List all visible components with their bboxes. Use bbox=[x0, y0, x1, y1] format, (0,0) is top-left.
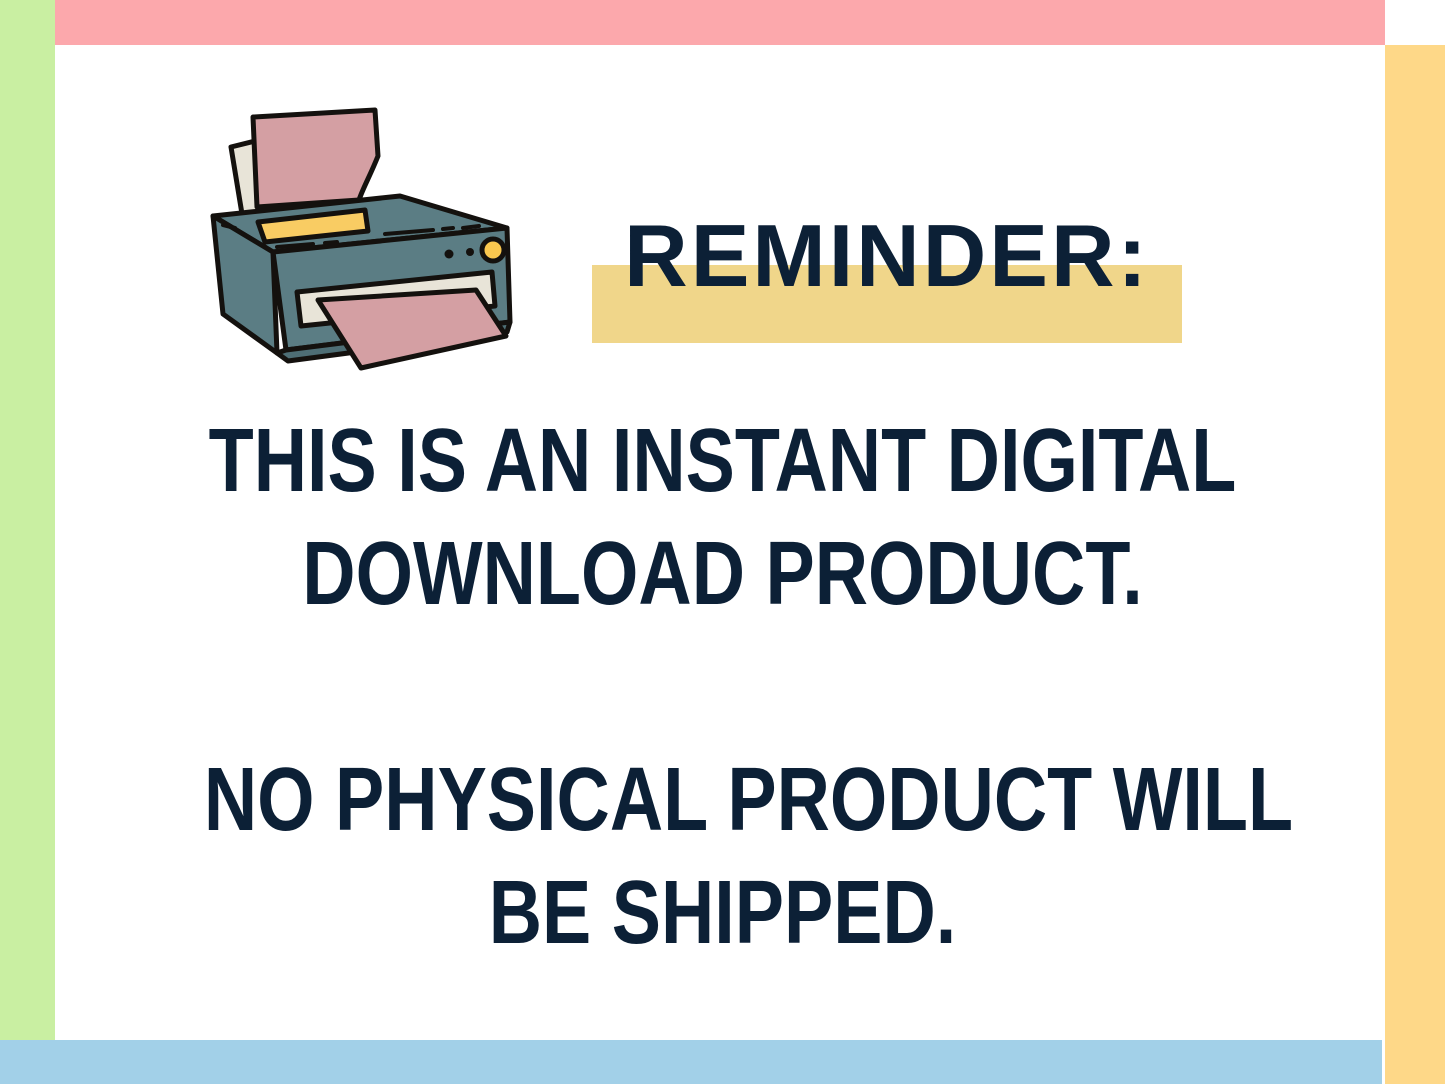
reminder-graphic-canvas: REMINDER: THIS IS AN INSTANT DIGITAL DOW… bbox=[0, 0, 1445, 1084]
printer-icon bbox=[185, 100, 545, 390]
body-line-1: THIS IS AN INSTANT DIGITAL bbox=[204, 405, 1241, 518]
bottom-blue-bar bbox=[0, 1040, 1382, 1084]
body-line-3: NO PHYSICAL PRODUCT WILL bbox=[204, 744, 1241, 857]
notice-body-copy: THIS IS AN INSTANT DIGITAL DOWNLOAD PROD… bbox=[90, 405, 1355, 970]
right-yellow-bar bbox=[1385, 45, 1445, 1084]
printer-indicator-dot bbox=[445, 250, 454, 259]
body-line-spacer bbox=[204, 631, 1241, 744]
body-line-2: DOWNLOAD PRODUCT. bbox=[204, 518, 1241, 631]
body-line-4: BE SHIPPED. bbox=[204, 857, 1241, 970]
printer-indicator-dot bbox=[466, 248, 474, 256]
reminder-heading-text: REMINDER: bbox=[592, 200, 1182, 312]
reminder-heading-block: REMINDER: bbox=[592, 200, 1182, 345]
top-pink-bar bbox=[55, 0, 1385, 45]
printer-illustration bbox=[185, 100, 545, 390]
left-green-bar bbox=[0, 0, 55, 1040]
printer-power-button bbox=[482, 239, 504, 261]
